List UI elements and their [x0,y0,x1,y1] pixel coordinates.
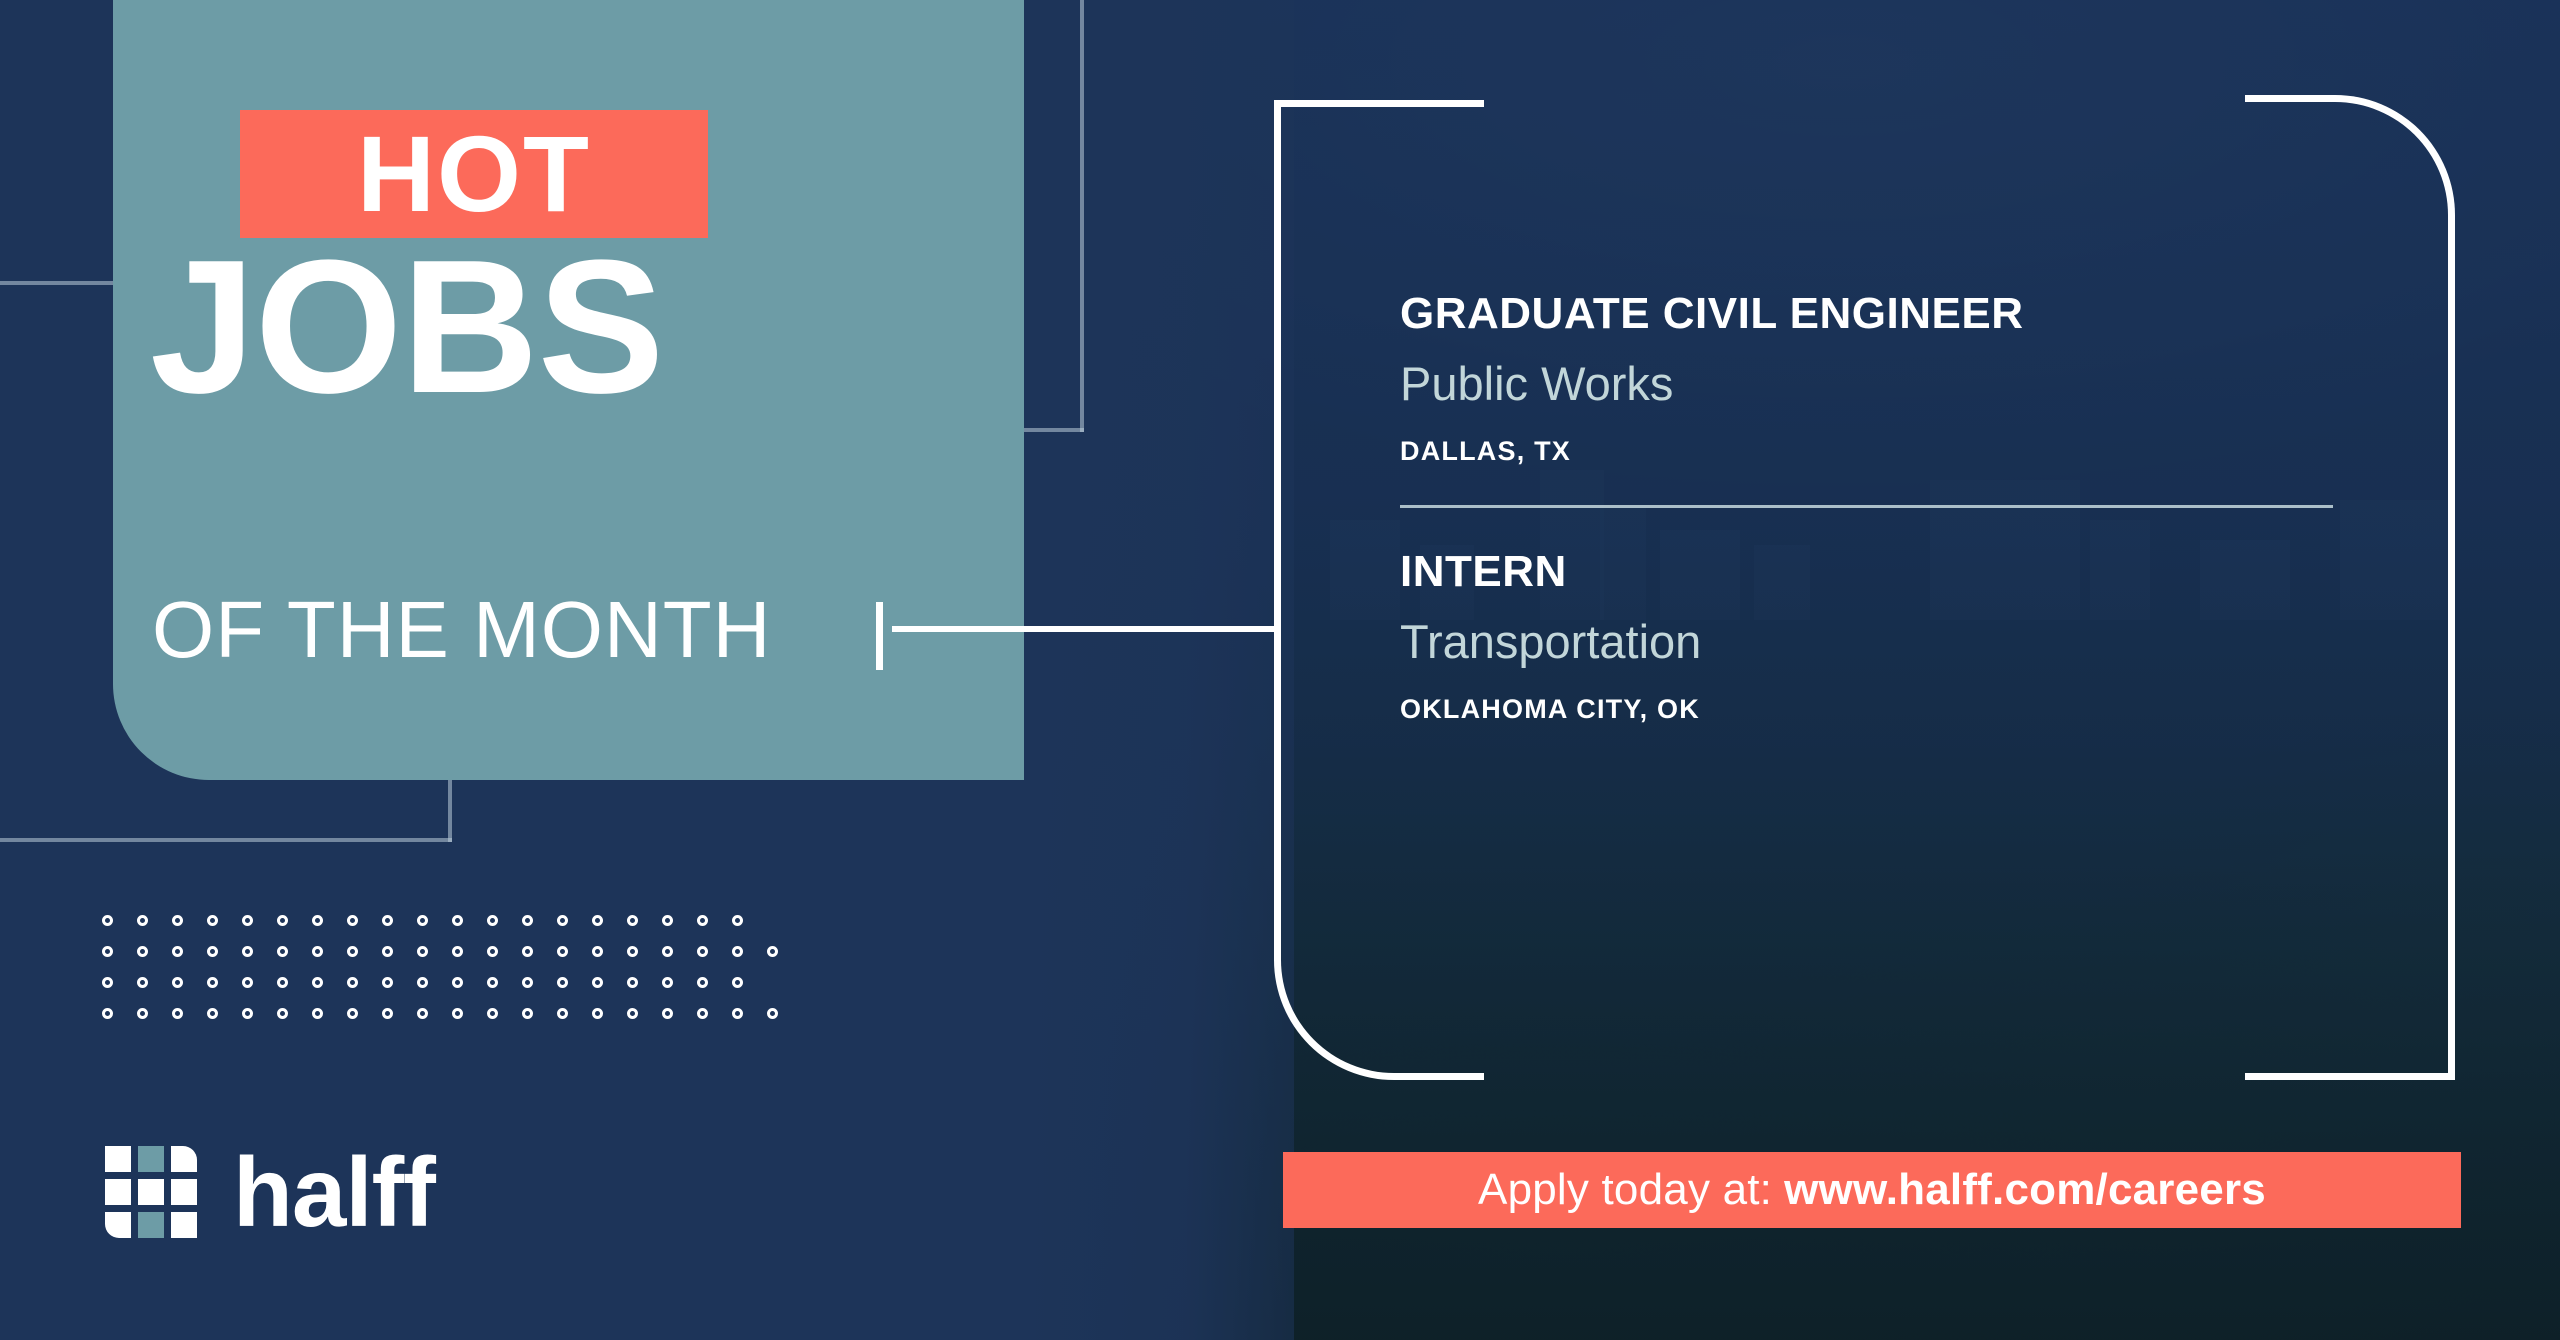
dot [172,1008,183,1019]
dot [312,1008,323,1019]
logo-cell [138,1146,164,1172]
dot-row [102,967,802,998]
dot [767,946,778,957]
dot [557,977,568,988]
dot [207,977,218,988]
job-title: INTERN [1400,548,2340,596]
dot [382,915,393,926]
dot [697,1008,708,1019]
dot [627,1008,638,1019]
logo-cell [138,1179,164,1205]
connector-tick-vertical [876,602,883,670]
dot [627,915,638,926]
dot [662,1008,673,1019]
dot [662,946,673,957]
job-department: Public Works [1400,358,2340,410]
logo-cell [105,1146,131,1172]
hot-badge-label: HOT [357,120,591,228]
logo-cell [138,1212,164,1238]
dot [277,915,288,926]
jobs-headline: JOBS [150,232,663,422]
logo-cell [105,1179,131,1205]
apply-cta-banner[interactable]: Apply today at: www.halff.com/careers [1283,1152,2461,1228]
dot [172,946,183,957]
dot [172,977,183,988]
dot [137,915,148,926]
dot [592,915,603,926]
deco-line-vertical-top [1080,0,1084,432]
logo-cell [105,1212,131,1238]
dot [102,915,113,926]
dot [557,946,568,957]
poster-canvas: HOT JOBS OF THE MONTH GRADUATE CIVIL ENG… [0,0,2560,1340]
dot-row [102,998,802,1029]
cta-url-label[interactable]: www.halff.com/careers [1784,1165,2266,1215]
dot [417,977,428,988]
dot [417,1008,428,1019]
deco-line-lower-vertical [448,780,452,842]
hot-badge: HOT [240,110,708,238]
dot [137,977,148,988]
left-solid-panel-fade [1024,0,1294,1340]
dot [102,1008,113,1019]
dot [347,977,358,988]
dot [382,946,393,957]
logo-cell [171,1212,197,1238]
job-location: OKLAHOMA CITY, OK [1400,694,2340,725]
dot [522,915,533,926]
dot [452,946,463,957]
job-title: GRADUATE CIVIL ENGINEER [1400,290,2340,338]
dot [242,915,253,926]
dot-grid-pattern [102,905,802,1029]
dot [102,946,113,957]
dot [697,946,708,957]
dot [452,1008,463,1019]
job-listings: GRADUATE CIVIL ENGINEER Public Works DAL… [1400,290,2340,725]
dot [347,1008,358,1019]
dot [347,915,358,926]
dot [452,915,463,926]
dot [487,1008,498,1019]
dot [277,1008,288,1019]
dot [627,946,638,957]
dot [487,915,498,926]
dot [207,915,218,926]
dot-row [102,905,802,936]
job-item: INTERN Transportation OKLAHOMA CITY, OK [1400,548,2340,725]
dot [697,977,708,988]
dot [277,977,288,988]
halff-wordmark: halff [233,1143,435,1241]
dot [522,1008,533,1019]
dot [242,1008,253,1019]
dot [522,977,533,988]
dot [207,1008,218,1019]
deco-line-lower-horizontal [0,838,452,842]
dot [242,977,253,988]
dot [417,946,428,957]
dot [277,946,288,957]
dot [382,977,393,988]
dot [522,946,533,957]
dot [312,915,323,926]
dot [732,977,743,988]
dot [767,1008,778,1019]
dot [312,946,323,957]
dot [487,977,498,988]
dot [557,1008,568,1019]
halff-logo: halff [105,1143,435,1241]
dot [557,915,568,926]
of-the-month-subtitle: OF THE MONTH [152,590,771,670]
connector-line-horizontal [892,626,1280,632]
dot [207,946,218,957]
dot [662,977,673,988]
dot [347,946,358,957]
dot [102,977,113,988]
dot [417,915,428,926]
dot [487,946,498,957]
cta-prefix-label: Apply today at: [1478,1165,1772,1215]
dot [627,977,638,988]
job-divider [1400,505,2333,508]
dot [732,1008,743,1019]
dot [592,1008,603,1019]
dot [172,915,183,926]
dot [137,946,148,957]
dot [137,1008,148,1019]
dot [312,977,323,988]
halff-logo-mark [105,1146,197,1238]
dot [242,946,253,957]
job-item: GRADUATE CIVIL ENGINEER Public Works DAL… [1400,290,2340,467]
dot [592,946,603,957]
logo-cell [171,1146,197,1172]
deco-line-stub-right [1022,428,1084,432]
job-location: DALLAS, TX [1400,436,2340,467]
dot [452,977,463,988]
dot [382,1008,393,1019]
dot [732,915,743,926]
job-department: Transportation [1400,616,2340,668]
dot [592,977,603,988]
dot [697,915,708,926]
dot-row [102,936,802,967]
logo-cell [171,1179,197,1205]
dot [662,915,673,926]
dot [732,946,743,957]
